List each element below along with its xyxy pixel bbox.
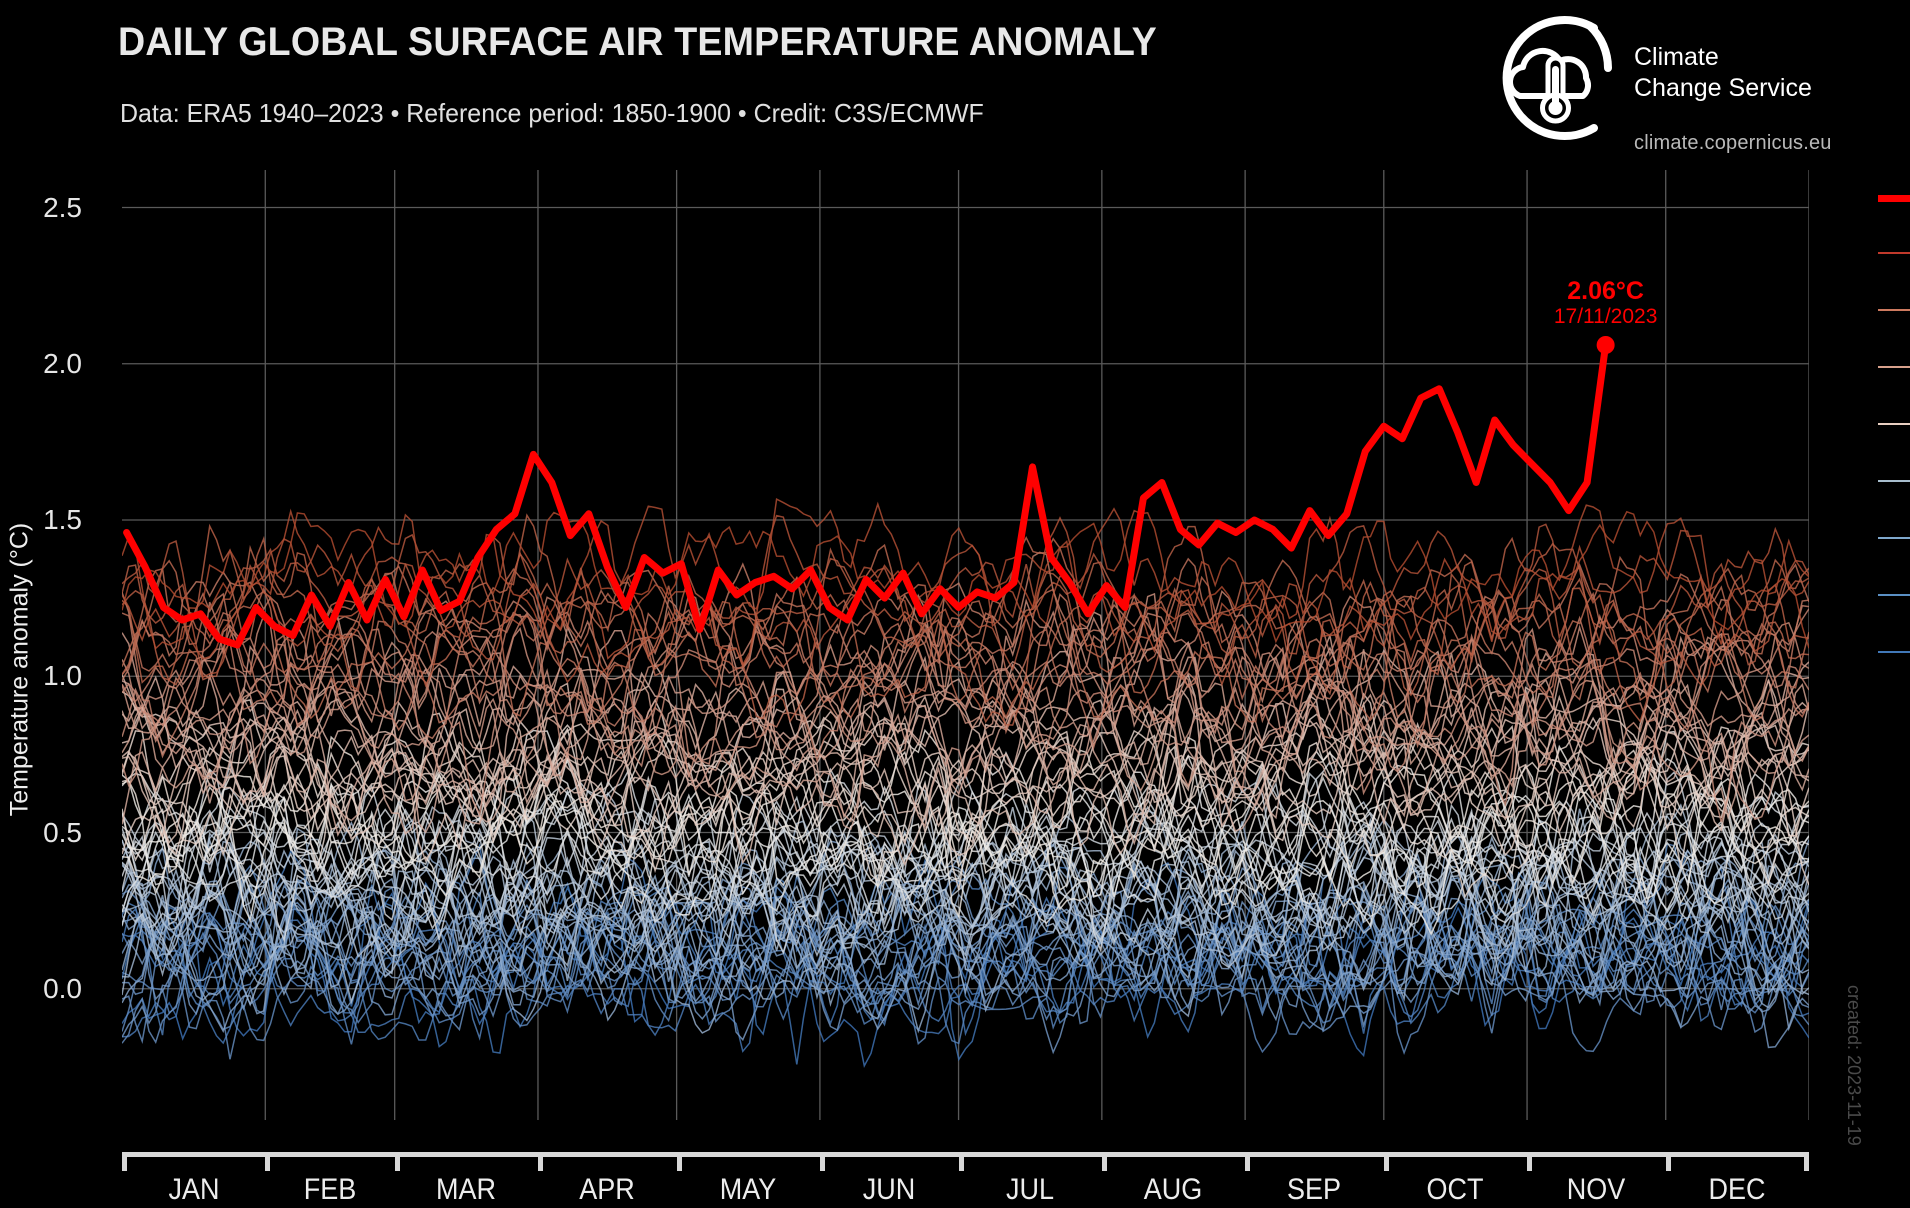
- x-axis-tick: [1245, 1152, 1250, 1171]
- x-axis-tick: [959, 1152, 964, 1171]
- current-value-marker: [1597, 336, 1615, 354]
- legend-item[interactable]: [1878, 537, 1910, 539]
- x-axis-tick: [1527, 1152, 1532, 1171]
- x-axis-tick: [265, 1152, 270, 1171]
- legend-swatch: [1878, 195, 1910, 202]
- x-axis-tick: [122, 1152, 127, 1171]
- legend-swatch: [1878, 480, 1910, 482]
- created-stamp: created: 2023-11-19: [1843, 985, 1864, 1146]
- x-axis-tick: [1666, 1152, 1671, 1171]
- y-axis-tick-label: 1.0: [0, 660, 100, 692]
- plot-area: 2.06°C17/11/2023: [122, 170, 1809, 1120]
- ensemble-lines: [122, 499, 1809, 1066]
- annotation-date: 17/11/2023: [1554, 305, 1658, 329]
- x-axis-tick: [538, 1152, 543, 1171]
- logo-line-1: Climate: [1634, 42, 1812, 73]
- x-axis-tick: [820, 1152, 825, 1171]
- legend-item[interactable]: [1878, 252, 1910, 254]
- logo-title: Climate Change Service: [1634, 42, 1812, 104]
- x-axis-month-label: JUL: [1006, 1173, 1054, 1207]
- x-axis-month-label: JAN: [168, 1173, 219, 1207]
- y-axis-tick-label: 1.5: [0, 504, 100, 536]
- x-axis-month-label: NOV: [1567, 1173, 1626, 1207]
- legend-swatch: [1878, 651, 1910, 653]
- x-axis-tick: [1102, 1152, 1107, 1171]
- x-axis-tick: [1804, 1152, 1809, 1171]
- y-axis-tick-label: 0.0: [0, 973, 100, 1005]
- x-axis-bar: [122, 1152, 1809, 1157]
- x-axis-month-label: AUG: [1144, 1173, 1203, 1207]
- legend-item[interactable]: [1878, 594, 1910, 596]
- copernicus-cloud-thermometer-icon: [1490, 12, 1622, 144]
- y-axis: Temperature anomaly (°C) 0.00.51.01.52.0…: [0, 170, 100, 1120]
- x-axis-month-label: MAY: [720, 1173, 777, 1207]
- annotation-value: 2.06°C: [1567, 277, 1644, 306]
- legend-swatch: [1878, 252, 1910, 254]
- x-axis-month-label: JUN: [863, 1173, 916, 1207]
- x-axis-month-label: FEB: [304, 1173, 357, 1207]
- x-axis-month-label: DEC: [1709, 1173, 1766, 1207]
- x-axis-month-label: APR: [580, 1173, 636, 1207]
- legend-swatch: [1878, 366, 1910, 368]
- y-axis-tick-label: 2.5: [0, 192, 100, 224]
- legend-swatch: [1878, 309, 1910, 311]
- legend-item[interactable]: [1878, 651, 1910, 653]
- legend-swatch: [1878, 537, 1910, 539]
- legend[interactable]: [1878, 195, 1910, 715]
- legend-item[interactable]: [1878, 480, 1910, 482]
- y-axis-tick-label: 2.0: [0, 348, 100, 380]
- ensemble-line: [122, 499, 1809, 648]
- x-axis-month-label: OCT: [1427, 1173, 1484, 1207]
- chart-canvas: DAILY GLOBAL SURFACE AIR TEMPERATURE ANO…: [0, 0, 1910, 1208]
- chart-subtitle: Data: ERA5 1940–2023 • Reference period:…: [120, 98, 984, 129]
- legend-item[interactable]: [1878, 366, 1910, 368]
- logo-url: climate.copernicus.eu: [1634, 132, 1832, 155]
- x-axis-tick: [677, 1152, 682, 1171]
- x-axis: JANFEBMARAPRMAYJUNJULAUGSEPOCTNOVDEC: [122, 1140, 1809, 1208]
- copernicus-logo: Climate Change Service climate.copernicu…: [1482, 6, 1902, 166]
- y-axis-tick-label: 0.5: [0, 817, 100, 849]
- ensemble-line: [122, 511, 1809, 649]
- legend-swatch: [1878, 594, 1910, 596]
- legend-swatch: [1878, 423, 1910, 425]
- legend-item[interactable]: [1878, 195, 1910, 202]
- x-axis-month-label: SEP: [1287, 1173, 1341, 1207]
- x-axis-month-label: MAR: [436, 1173, 496, 1207]
- page-title: DAILY GLOBAL SURFACE AIR TEMPERATURE ANO…: [118, 20, 1157, 65]
- legend-item[interactable]: [1878, 309, 1910, 311]
- logo-line-2: Change Service: [1634, 73, 1812, 104]
- legend-item[interactable]: [1878, 423, 1910, 425]
- x-axis-tick: [1384, 1152, 1389, 1171]
- x-axis-tick: [395, 1152, 400, 1171]
